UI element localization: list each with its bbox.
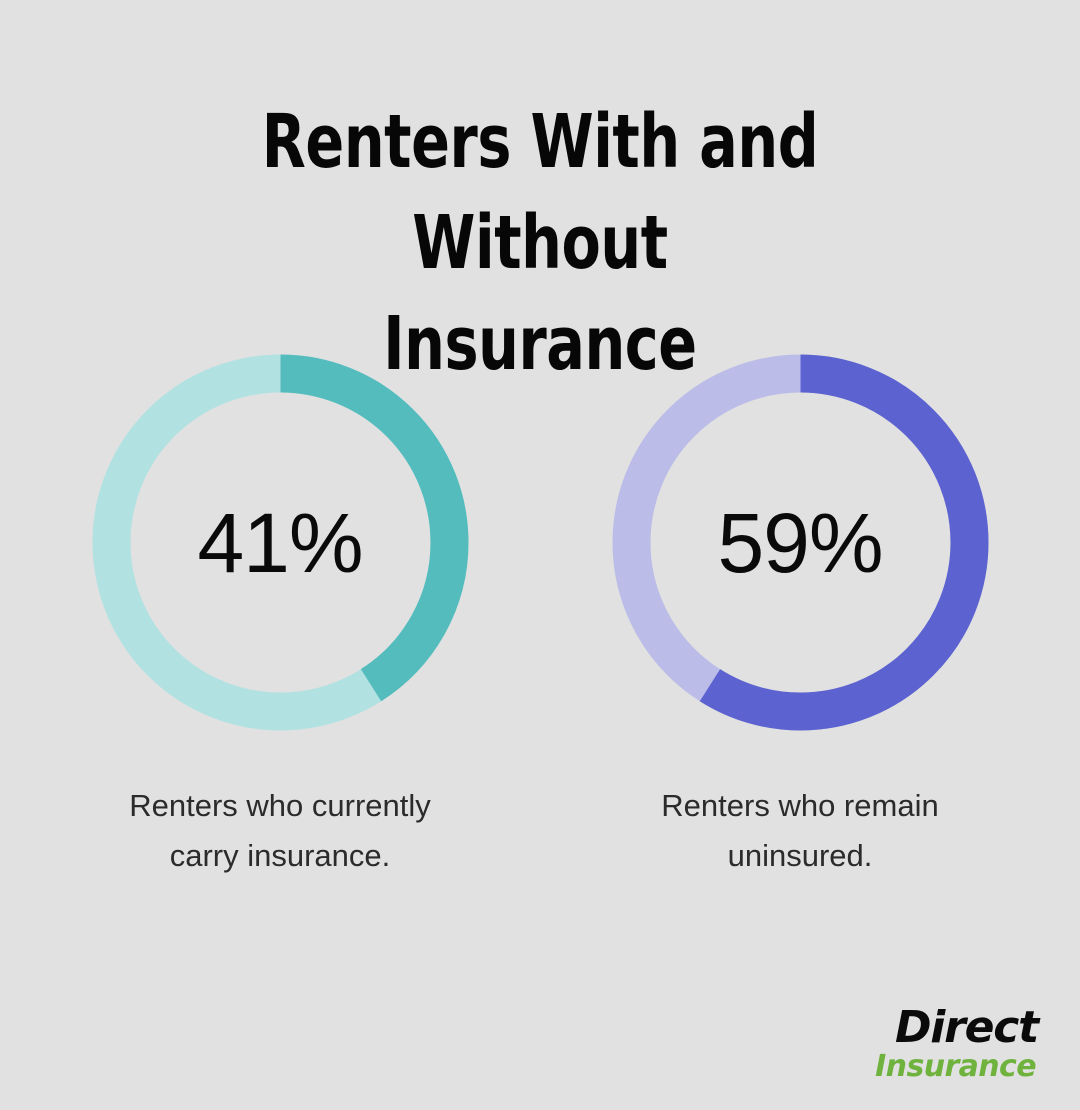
- donut-caption-uninsured: Renters who remain uninsured.: [585, 781, 1015, 881]
- donut-value-insured: 41%: [92, 354, 469, 731]
- donut-value-uninsured: 59%: [612, 354, 989, 731]
- donut-ring-insured: 41%: [92, 354, 469, 731]
- brand-logo-secondary-text: Insurance: [875, 1052, 1036, 1082]
- infographic-canvas: Renters With and Without Insurance 41% R…: [0, 0, 1080, 1110]
- page-title: Renters With and Without Insurance: [76, 92, 1005, 395]
- donut-charts-row: 41% Renters who currently carry insuranc…: [0, 354, 1080, 881]
- donut-ring-uninsured: 59%: [612, 354, 989, 731]
- brand-logo: Direct Insurance: [875, 1006, 1038, 1082]
- donut-caption-insured: Renters who currently carry insurance.: [65, 781, 495, 881]
- brand-logo-primary-text: Direct: [875, 1006, 1038, 1050]
- donut-chart-insured: 41% Renters who currently carry insuranc…: [20, 354, 540, 881]
- title-container: Renters With and Without Insurance: [0, 92, 1080, 395]
- donut-chart-uninsured: 59% Renters who remain uninsured.: [540, 354, 1060, 881]
